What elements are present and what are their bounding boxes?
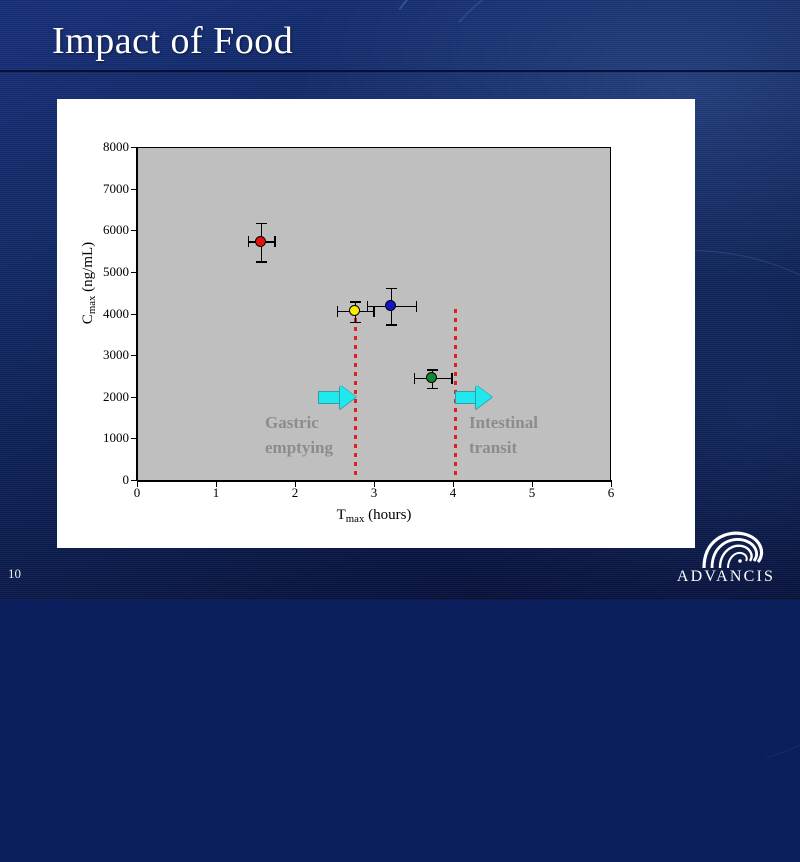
gastric-emptying-arrow: [318, 385, 356, 409]
arrow-shaft: [318, 391, 340, 404]
y-axis-label-unit: (ng/mL): [80, 242, 96, 296]
error-bar-cap-horizontal: [337, 306, 339, 317]
x-tick-mark: [611, 481, 612, 487]
y-tick-mark: [131, 189, 137, 190]
gastric-emptying-label: Gastric emptying: [265, 411, 333, 460]
error-bar-cap-horizontal: [373, 306, 375, 317]
gastric-emptying-line2: emptying: [265, 436, 333, 461]
error-bar-cap-vertical: [256, 261, 267, 263]
y-tick-label: 5000: [69, 264, 129, 280]
logo-dot: [738, 559, 742, 563]
intestinal-transit-label: Intestinal transit: [469, 411, 538, 460]
slide-canvas: Impact of Food 0100020003000400050006000…: [0, 0, 800, 600]
x-tick-label: 2: [275, 485, 315, 501]
y-tick-label: 1000: [69, 430, 129, 446]
error-bar-cap-vertical: [256, 223, 267, 225]
x-tick-label: 0: [117, 485, 157, 501]
error-bar-cap-vertical: [350, 301, 361, 303]
x-tick-mark: [295, 481, 296, 487]
y-tick-mark: [131, 147, 137, 148]
y-tick-label: 2000: [69, 389, 129, 405]
title-band: Impact of Food: [0, 0, 800, 72]
data-point-marker: [255, 236, 266, 247]
error-bar-cap-vertical: [386, 324, 397, 326]
x-tick-mark: [532, 481, 533, 487]
x-tick-label: 3: [354, 485, 394, 501]
x-tick-label: 6: [591, 485, 631, 501]
gastric-emptying-line1: Gastric: [265, 411, 333, 436]
y-tick-mark: [131, 314, 137, 315]
x-axis-label: Tmax (hours): [137, 507, 611, 525]
y-tick-mark: [131, 438, 137, 439]
y-tick-label: 4000: [69, 306, 129, 322]
x-tick-mark: [137, 481, 138, 487]
logo-wordmark: ADVANCIS: [660, 568, 792, 586]
y-tick-mark: [131, 272, 137, 273]
error-bar-cap-vertical: [386, 288, 397, 290]
x-tick-mark: [374, 481, 375, 487]
error-bar-cap-vertical: [427, 388, 438, 390]
error-bar-cap-horizontal: [416, 301, 418, 312]
arrow-head: [476, 385, 492, 409]
error-bar-cap-horizontal: [414, 373, 416, 384]
x-axis-label-sub: max: [346, 513, 365, 525]
x-tick-label: 1: [196, 485, 236, 501]
x-axis-label-main: T: [337, 507, 346, 523]
error-bar-cap-horizontal: [274, 236, 276, 247]
error-bar-cap-vertical: [427, 369, 438, 371]
x-tick-label: 5: [512, 485, 552, 501]
x-axis-label-unit: (hours): [364, 507, 411, 523]
y-tick-label: 6000: [69, 222, 129, 238]
chart-panel: 010002000300040005000600070008000 012345…: [57, 99, 695, 548]
y-tick-label: 3000: [69, 347, 129, 363]
y-tick-mark: [131, 355, 137, 356]
intestinal-transit-line1: Intestinal: [469, 411, 538, 436]
y-tick-label: 8000: [69, 139, 129, 155]
error-bar-cap-horizontal: [248, 236, 250, 247]
y-axis-label-main: C: [80, 314, 96, 324]
y-axis-label: Cmax (ng/mL): [80, 123, 98, 443]
intestinal-transit-line2: transit: [469, 436, 538, 461]
page-number: 10: [8, 566, 21, 582]
error-bar-cap-horizontal: [451, 373, 453, 384]
intestinal-transit-arrow: [455, 385, 492, 409]
x-tick-mark: [216, 481, 217, 487]
y-tick-mark: [131, 230, 137, 231]
error-bar-cap-horizontal: [367, 301, 369, 312]
y-tick-label: 7000: [69, 181, 129, 197]
arrow-head: [340, 385, 356, 409]
y-tick-mark: [131, 397, 137, 398]
x-tick-label: 4: [433, 485, 473, 501]
x-tick-mark: [453, 481, 454, 487]
error-bar-cap-vertical: [350, 322, 361, 324]
advancis-logo: ADVANCIS: [660, 528, 792, 590]
y-axis-label-sub: max: [86, 296, 98, 315]
arrow-shaft: [455, 391, 476, 404]
page-title: Impact of Food: [52, 19, 293, 63]
